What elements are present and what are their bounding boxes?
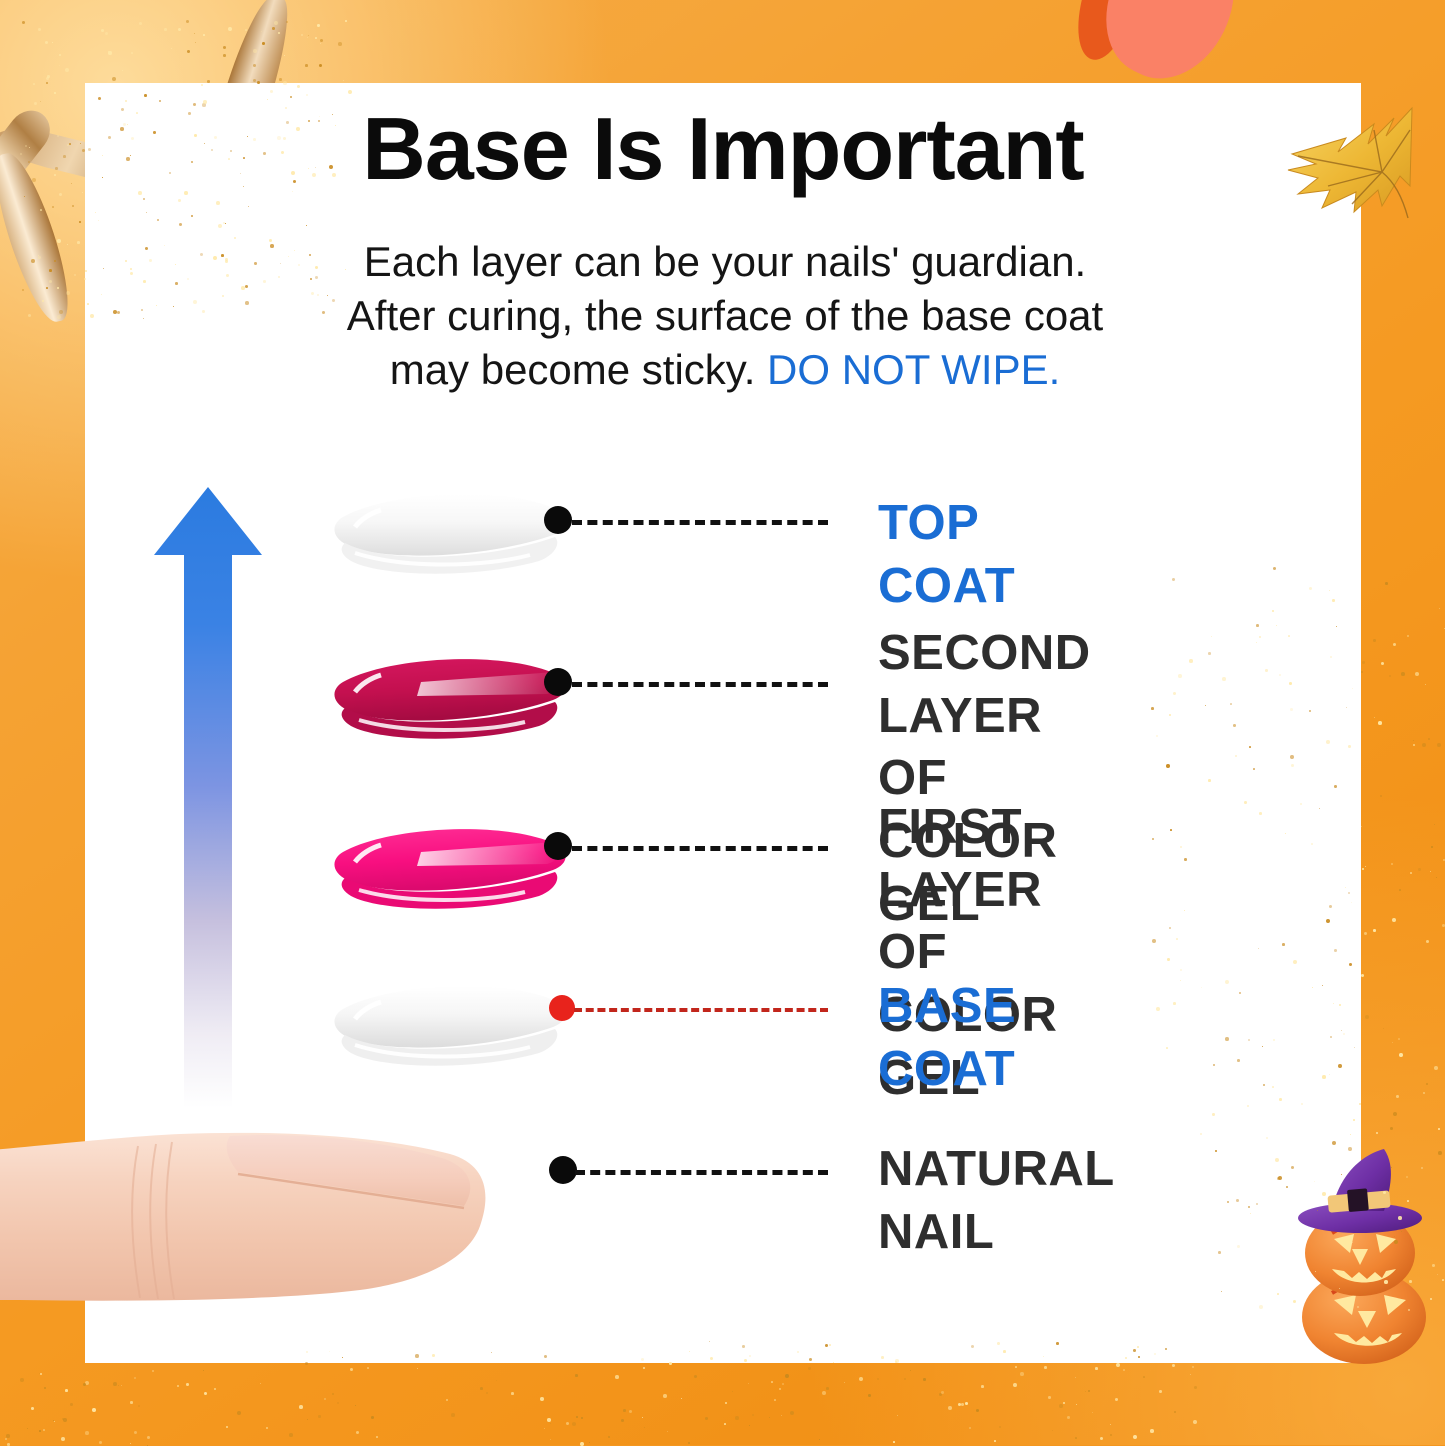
layer-label-base-coat: BASE COAT — [878, 975, 1016, 1100]
layer-marker-dot-top-coat — [544, 506, 572, 534]
leader-line-natural-nail — [575, 1170, 828, 1175]
leader-line-base-coat — [574, 1008, 828, 1012]
layer-marker-dot-base-coat — [549, 995, 575, 1021]
subtitle-line-1: Each layer can be your nails' guardian. — [200, 235, 1250, 289]
dark-pink-nail-icon — [325, 648, 573, 748]
clear-base-coat-nail-icon — [325, 975, 573, 1075]
leader-line-second-color-gel — [572, 682, 828, 687]
layer-marker-dot-first-color-gel — [544, 832, 572, 860]
subtitle-text: Each layer can be your nails' guardian. … — [200, 235, 1250, 396]
do-not-wipe-warning: DO NOT WIPE. — [767, 346, 1060, 393]
leader-line-top-coat — [572, 520, 828, 525]
leader-line-first-color-gel — [572, 846, 828, 851]
clear-top-coat-nail-icon — [325, 483, 573, 583]
subtitle-line-3: may become sticky. DO NOT WIPE. — [200, 343, 1250, 397]
stacked-jack-o-lanterns-icon — [1272, 1145, 1445, 1370]
page-title: Base Is Important — [85, 105, 1361, 193]
layer-marker-dot-natural-nail — [549, 1156, 577, 1184]
layer-marker-dot-second-color-gel — [544, 668, 572, 696]
layer-label-natural-nail: NATURAL NAIL — [878, 1138, 1114, 1263]
layer-label-top-coat: TOP COAT — [878, 492, 1015, 617]
upward-direction-arrow-icon — [150, 483, 270, 1108]
subtitle-line-2: After curing, the surface of the base co… — [200, 289, 1250, 343]
subtitle-line-3-plain: may become sticky. — [390, 346, 767, 393]
natural-fingernail-photo — [0, 1130, 520, 1345]
bright-pink-nail-icon — [325, 818, 573, 918]
